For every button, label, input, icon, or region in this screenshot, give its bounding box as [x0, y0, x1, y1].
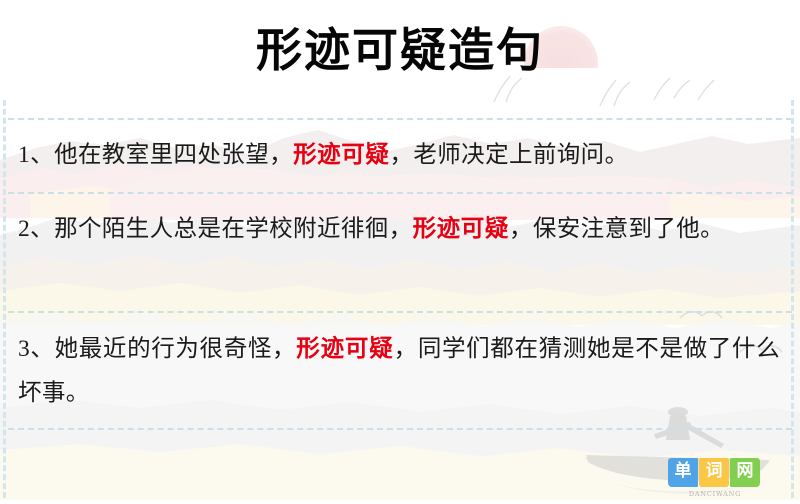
sentence-3-keyword: 形迹可疑	[296, 336, 393, 362]
sentence-2-index: 2、	[18, 216, 54, 242]
sentence-1-after: ，老师决定上前询问。	[389, 142, 628, 168]
sentence-2-after: ，保安注意到了他。	[509, 216, 724, 242]
content-layer: 形迹可疑造句 1、他在教室里四处张望，形迹可疑，老师决定上前询问。 2、那个陌生…	[0, 0, 800, 504]
sentence-3-before: 她最近的行为很奇怪，	[55, 336, 297, 362]
sentence-2-keyword: 形迹可疑	[413, 216, 509, 242]
sentence-1-before: 他在教室里四处张望，	[54, 142, 293, 168]
sentence-1-index: 1、	[18, 142, 54, 168]
example-sentence-2: 2、那个陌生人总是在学校附近徘徊，形迹可疑，保安注意到了他。	[18, 207, 780, 251]
sentence-1-keyword: 形迹可疑	[293, 142, 389, 168]
sentence-3-index: 3、	[18, 336, 55, 362]
example-sentence-1: 1、他在教室里四处张望，形迹可疑，老师决定上前询问。	[18, 133, 780, 177]
page-title: 形迹可疑造句	[0, 23, 800, 78]
example-sentence-3: 3、她最近的行为很奇怪，形迹可疑，同学们都在猜测她是不是做了什么坏事。	[18, 327, 780, 415]
slide-canvas: 单 词 网 DANCIWANG 形迹可疑造句 1、他在教室里四处张望，形迹可疑，…	[0, 0, 800, 504]
sentence-2-before: 那个陌生人总是在学校附近徘徊，	[54, 216, 413, 242]
